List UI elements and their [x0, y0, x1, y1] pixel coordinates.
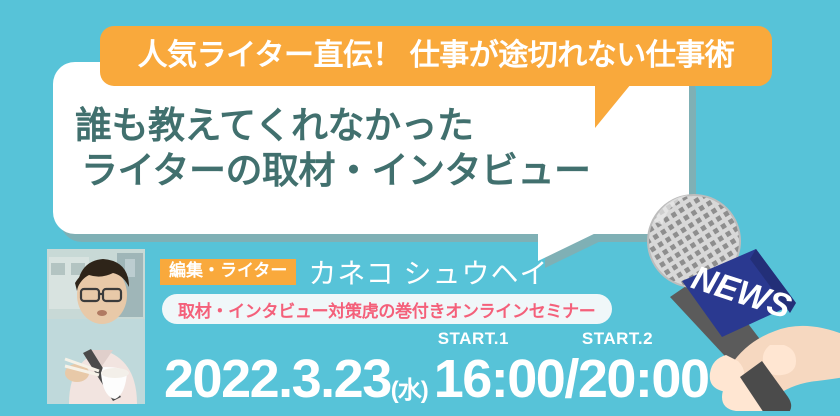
- event-day-of-week: (水): [391, 379, 428, 406]
- ribbon-tail: [595, 84, 631, 128]
- title-line-2: ライターの取材・インタビュー: [75, 148, 689, 193]
- tagline-text: 人気ライター直伝！ 仕事が途切れない仕事術: [138, 41, 735, 71]
- start-time-1: START.1 16:00: [434, 330, 565, 406]
- speaker-photo-illustration: [47, 249, 145, 404]
- start1-label: START.1: [434, 330, 509, 347]
- page-title: 誰も教えてくれなかった ライターの取材・インタビュー: [53, 62, 689, 234]
- speaker-name: カネコ シュウヘイ: [308, 252, 548, 292]
- subtitle-pill: 取材・インタビュー対策虎の巻付きオンラインセミナー: [162, 294, 612, 324]
- time-separator: /: [564, 352, 578, 406]
- tagline-ribbon: 人気ライター直伝！ 仕事が途切れない仕事術: [100, 26, 772, 86]
- subtitle-text: 取材・インタビュー対策虎の巻付きオンラインセミナー: [178, 297, 596, 322]
- event-date: 2022.3.23: [164, 352, 391, 406]
- microphone-svg: NEWS: [630, 185, 840, 411]
- start1-time: 16:00: [434, 352, 565, 406]
- news-microphone-illustration: NEWS: [630, 185, 840, 411]
- seminar-banner: 人気ライター直伝！ 仕事が途切れない仕事術 誰も教えてくれなかった ライターの取…: [0, 0, 840, 411]
- schedule-block: 2022.3.23 (水) START.1 16:00 / START.2 20…: [164, 330, 708, 406]
- speaker-role-badge: 編集・ライター: [160, 259, 296, 285]
- speaker-photo: [47, 249, 145, 404]
- speaker-row: 編集・ライター カネコ シュウヘイ: [160, 252, 549, 292]
